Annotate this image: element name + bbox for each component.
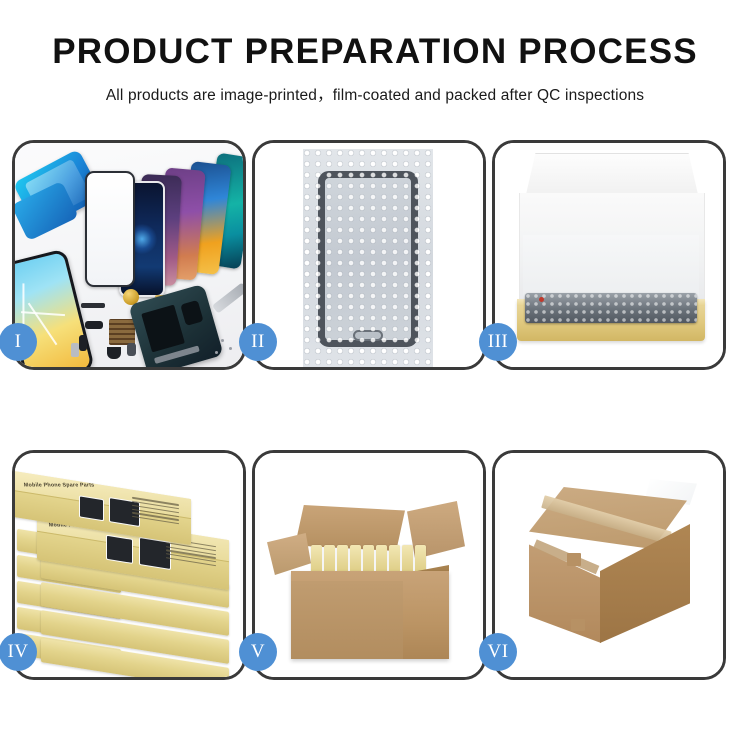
wrapped-phone-screen-icon	[318, 171, 418, 347]
carton-front-panel-icon	[291, 581, 403, 659]
screen-glass-sheet-icon	[85, 171, 135, 287]
page-header: PRODUCT PREPARATION PROCESS All products…	[0, 0, 750, 105]
button-flex-icon	[79, 335, 87, 351]
step-6-image	[495, 453, 723, 677]
screw-icon	[221, 339, 224, 342]
step-2-image	[255, 143, 483, 367]
step-panel-1[interactable]: I	[12, 140, 246, 370]
step-badge-5: V	[239, 633, 277, 671]
step-5-image	[255, 453, 483, 677]
page-subtitle: All products are image-printed，film-coat…	[0, 83, 750, 105]
step-badge-2: II	[239, 323, 277, 361]
red-label-dot-icon	[539, 297, 544, 302]
screw-icon	[215, 351, 218, 354]
step-panel-5[interactable]: V	[252, 450, 486, 680]
battery-connector-icon	[127, 343, 136, 356]
bubble-wrap-sheet-icon	[303, 149, 433, 367]
step-3-image	[495, 143, 723, 367]
foam-padding-icon	[523, 235, 699, 301]
earpiece-icon	[107, 347, 121, 359]
kraft-box-stack: Mobile Phone Spare Parts Mobile Phone Sp…	[15, 473, 243, 677]
step-4-image: Mobile Phone Spare Parts Mobile Phone Sp…	[15, 453, 243, 677]
step-1-image	[15, 143, 243, 367]
page-title: PRODUCT PREPARATION PROCESS	[0, 34, 750, 71]
phone-screen-fan	[123, 155, 243, 275]
screw-icon	[229, 347, 232, 350]
box-phone-graphic-icon	[79, 495, 104, 521]
connector-chip-icon	[109, 319, 135, 345]
box-phone-graphic-icon	[106, 535, 133, 564]
carton-tab-icon	[567, 553, 581, 566]
packed-screen-icon	[525, 293, 697, 323]
step-panel-6[interactable]: VI	[492, 450, 726, 680]
step-badge-6: VI	[479, 633, 517, 671]
step-badge-4: IV	[0, 633, 37, 671]
step-badge-3: III	[479, 323, 517, 361]
step-panel-2[interactable]: II	[252, 140, 486, 370]
sim-tray-icon	[71, 343, 79, 357]
step-panel-4[interactable]: Mobile Phone Spare Parts Mobile Phone Sp…	[12, 450, 246, 680]
camera-module-icon	[85, 321, 103, 329]
carton-tab-icon	[571, 619, 585, 631]
flex-cable-icon	[81, 303, 105, 308]
process-steps-grid: I II III	[12, 140, 738, 680]
box-label-text: Mobile Phone Spare Parts	[23, 483, 94, 489]
step-panel-3[interactable]: III	[492, 140, 726, 370]
step-badge-1: I	[0, 323, 37, 361]
